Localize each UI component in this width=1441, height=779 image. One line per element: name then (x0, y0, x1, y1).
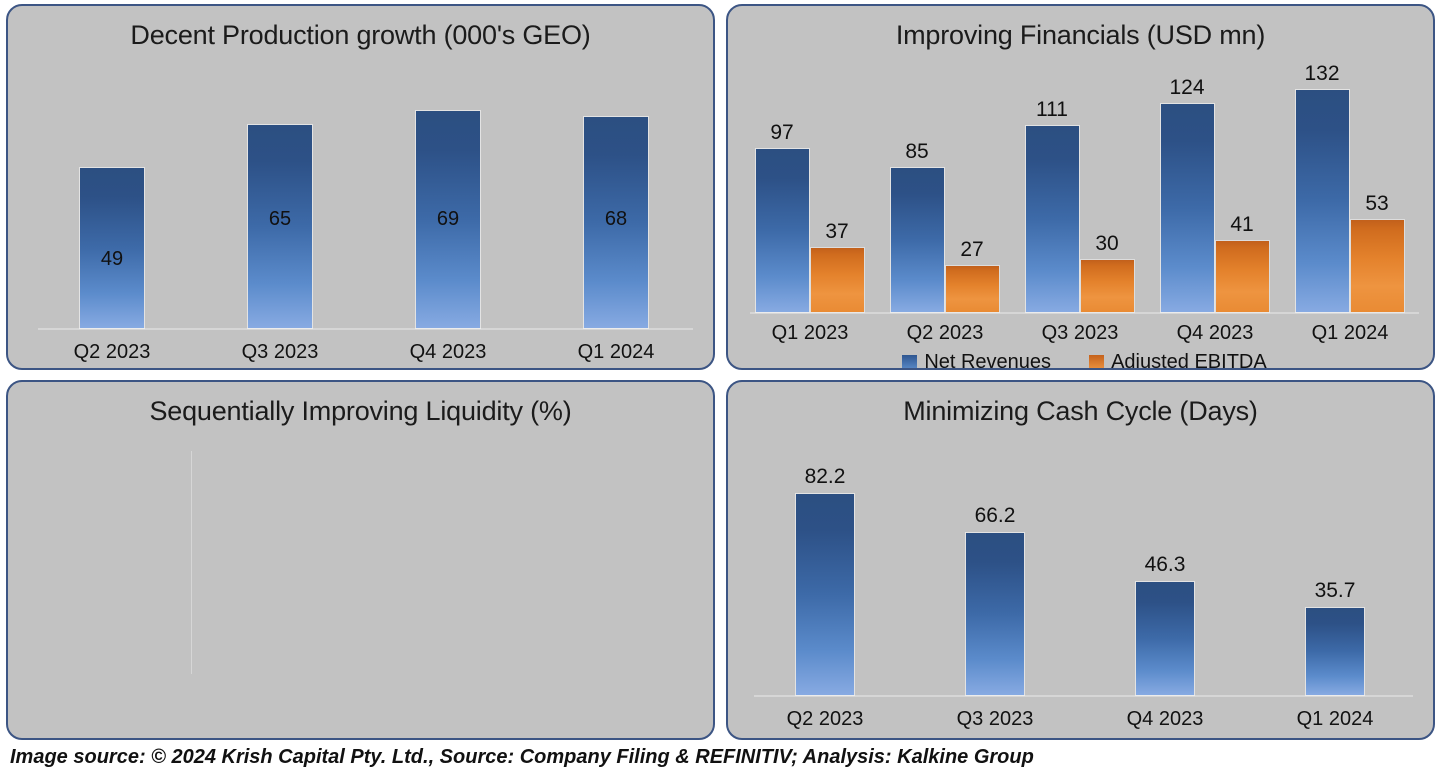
bar-net-revenues-2[interactable] (1026, 126, 1079, 312)
bar-production-1[interactable]: 65 (248, 125, 312, 328)
y-axis-line (191, 451, 192, 674)
bar-cashcycle-3[interactable] (1306, 608, 1364, 695)
bar-value-label-adjusted-ebitda-3: 41 (1212, 213, 1272, 237)
legend-item-net-revenues[interactable]: Net Revenues (902, 351, 1051, 370)
bar-production-0[interactable]: 49 (80, 168, 144, 328)
bar-value-label-adjusted-ebitda-1: 27 (942, 238, 1002, 262)
bar-value-label: 49 (80, 248, 144, 271)
x-tick-label-2: Q4 2023 (368, 341, 528, 364)
bar-value-label-net-revenues-4: 132 (1292, 62, 1352, 86)
plot-area-liquidity: Operating Margin 15.0% 25.4% 27.6% EBITD… (8, 382, 713, 738)
bar-adjusted-ebitda-2[interactable] (1081, 260, 1134, 312)
bar-net-revenues-3[interactable] (1161, 104, 1214, 312)
bar-value-label-adjusted-ebitda-2: 30 (1077, 232, 1137, 256)
bar-production-3[interactable]: 68 (584, 117, 648, 328)
chart-title-production: Decent Production growth (000's GEO) (8, 20, 713, 51)
x-axis-line (38, 328, 693, 330)
chart-title-financials: Improving Financials (USD mn) (728, 20, 1433, 51)
chart-title-cashcycle: Minimizing Cash Cycle (Days) (728, 396, 1433, 427)
bar-net-revenues-4[interactable] (1296, 90, 1349, 312)
panel-improving-liquidity: Sequentially Improving Liquidity (%) Ope… (6, 380, 715, 740)
x-tick-label-0: Q2 2023 (745, 708, 905, 731)
bar-value-label-0: 82.2 (788, 465, 862, 489)
x-tick-label-2: Q3 2023 (1010, 322, 1150, 345)
x-axis-line (754, 695, 1413, 697)
x-tick-label-3: Q4 2023 (1145, 322, 1285, 345)
bar-adjusted-ebitda-1[interactable] (946, 266, 999, 312)
legend-label: Adjusted EBITDA (1111, 351, 1267, 370)
x-tick-label-3: Q1 2024 (536, 341, 696, 364)
bars-cashcycle: 82.2 66.2 46.3 35.7 (748, 440, 1419, 695)
x-tick-label-0: Q1 2023 (740, 322, 880, 345)
bar-net-revenues-0[interactable] (756, 149, 809, 312)
source-attribution: Image source: © 2024 Krish Capital Pty. … (10, 746, 1034, 769)
bar-value-label-net-revenues-3: 124 (1157, 76, 1217, 100)
bar-adjusted-ebitda-3[interactable] (1216, 241, 1269, 312)
bar-cashcycle-2[interactable] (1136, 582, 1194, 695)
bar-value-label-net-revenues-2: 111 (1022, 98, 1082, 122)
bar-cashcycle-0[interactable] (796, 494, 854, 695)
bar-production-2[interactable]: 69 (416, 111, 480, 328)
x-tick-label-1: Q2 2023 (875, 322, 1015, 345)
bar-value-label-adjusted-ebitda-4: 53 (1347, 192, 1407, 216)
x-tick-label-1: Q3 2023 (915, 708, 1075, 731)
bar-value-label: 68 (584, 208, 648, 231)
bar-value-label-3: 35.7 (1298, 579, 1372, 603)
plot-area-financials: 97 37 85 27 111 30 124 41 (746, 64, 1423, 368)
legend-label: Net Revenues (924, 351, 1051, 370)
bar-adjusted-ebitda-0[interactable] (811, 248, 864, 312)
x-axis-line (750, 312, 1419, 314)
x-tick-label-4: Q1 2024 (1280, 322, 1420, 345)
bar-value-label-adjusted-ebitda-0: 37 (807, 220, 867, 244)
bars-financials: 97 37 85 27 111 30 124 41 (746, 64, 1423, 312)
x-tick-label-2: Q4 2023 (1085, 708, 1245, 731)
bar-value-label: 65 (248, 208, 312, 231)
bar-value-label-2: 46.3 (1128, 553, 1202, 577)
panel-production-growth: Decent Production growth (000's GEO) 49 … (6, 4, 715, 370)
bar-adjusted-ebitda-4[interactable] (1351, 220, 1404, 312)
bar-cashcycle-1[interactable] (966, 533, 1024, 695)
plot-area-cashcycle: 82.2 66.2 46.3 35.7 Q2 2023 Q3 2023 Q4 2… (748, 440, 1419, 738)
bars-production: 49 65 69 68 (32, 66, 699, 328)
legend-swatch-orange-icon (1089, 355, 1104, 370)
bar-value-label-net-revenues-1: 85 (887, 140, 947, 164)
legend-swatch-blue-icon (902, 355, 917, 370)
plot-area-production: 49 65 69 68 Q2 2023 Q3 2023 Q4 2023 Q1 2… (32, 66, 699, 368)
panel-minimizing-cash-cycle: Minimizing Cash Cycle (Days) 82.2 66.2 4… (726, 380, 1435, 740)
bar-value-label-1: 66.2 (958, 504, 1032, 528)
bar-value-label-net-revenues-0: 97 (752, 121, 812, 145)
x-tick-label-3: Q1 2024 (1255, 708, 1415, 731)
panel-improving-financials: Improving Financials (USD mn) 97 37 85 2… (726, 4, 1435, 370)
legend-item-adjusted-ebitda[interactable]: Adjusted EBITDA (1089, 351, 1267, 370)
x-tick-label-1: Q3 2023 (200, 341, 360, 364)
legend-financials: Net Revenues Adjusted EBITDA (746, 351, 1423, 370)
dashboard: Decent Production growth (000's GEO) 49 … (0, 0, 1441, 779)
bar-value-label: 69 (416, 208, 480, 231)
bar-net-revenues-1[interactable] (891, 168, 944, 312)
x-tick-label-0: Q2 2023 (32, 341, 192, 364)
